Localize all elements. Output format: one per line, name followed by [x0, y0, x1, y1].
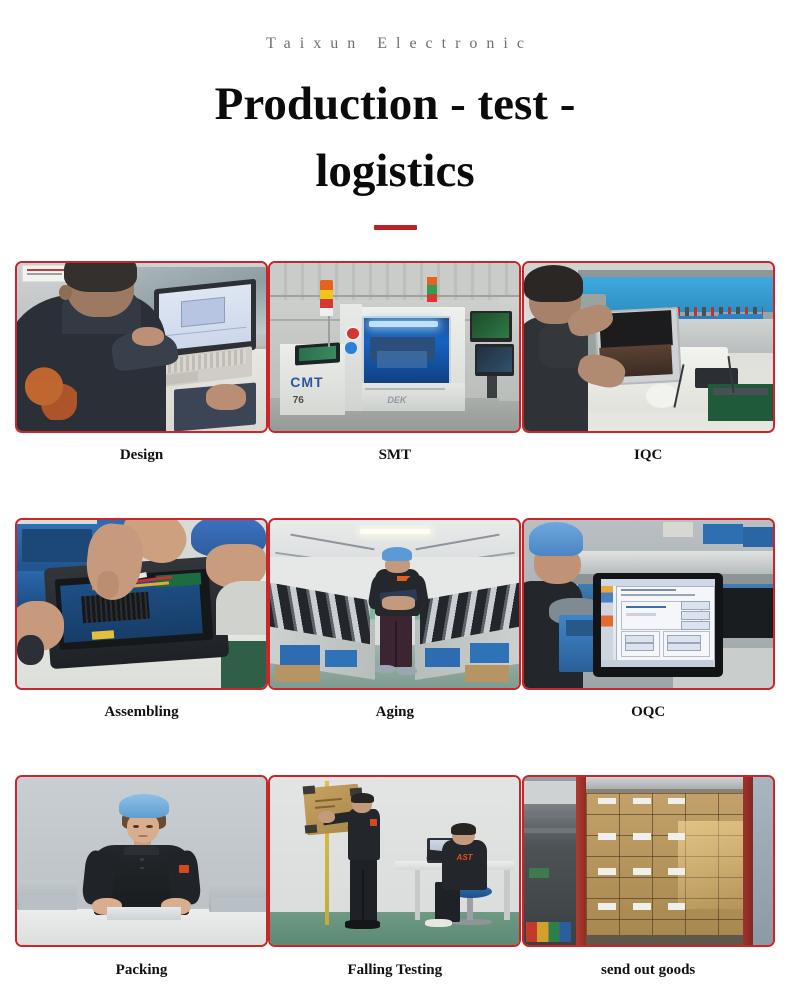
process-image-iqc[interactable]: [522, 261, 775, 433]
red-divider: [374, 225, 417, 230]
process-cell-oqc[interactable]: OQC: [522, 518, 775, 744]
process-image-packing[interactable]: [15, 775, 268, 947]
process-cell-aging[interactable]: Aging: [268, 518, 521, 744]
scene-smt-printer-machine-cmt: DEK CMT 76: [270, 263, 519, 431]
process-cell-packing[interactable]: Packing: [15, 775, 268, 1002]
process-grid-row-3: Packing FAST: [0, 775, 790, 1002]
process-label-smt: SMT: [268, 433, 521, 487]
process-label-packing: Packing: [15, 947, 268, 1002]
process-label-oqc: OQC: [522, 690, 775, 744]
scene-worker-inspecting-display-panel: [524, 263, 773, 431]
title-divider-wrap: [0, 225, 790, 230]
process-cell-iqc[interactable]: IQC: [522, 261, 775, 487]
smt-machine-number: 76: [293, 395, 318, 408]
smt-panel-text: DEK: [387, 395, 427, 408]
process-image-oqc[interactable]: [522, 518, 775, 690]
scene-hands-assembling-mainboard: [17, 520, 266, 688]
process-grid-row-2: Assembling: [0, 518, 790, 744]
smt-brand-label: CMT: [290, 374, 340, 391]
page-title: Production - test - logistics: [160, 71, 630, 204]
scene-burn-in-aging-room-aisle: [270, 520, 519, 688]
process-grid-row-1: Design DEK CMT 76: [0, 261, 790, 487]
process-label-design: Design: [15, 433, 268, 487]
process-image-aging[interactable]: [268, 518, 521, 690]
scene-engineer-at-laptop-cad: [17, 263, 266, 431]
production-process-page: Taixun Electronic Production - test - lo…: [0, 0, 790, 984]
scene-woman-wrapping-antistatic-bags: [17, 777, 266, 945]
process-label-iqc: IQC: [522, 433, 775, 487]
process-label-falling-testing: Falling Testing: [268, 947, 521, 1002]
process-cell-design[interactable]: Design: [15, 261, 268, 487]
scene-drop-test-box-and-laptop-desk: FAST: [270, 777, 519, 945]
process-cell-falling-testing[interactable]: FAST Falling Testing: [268, 775, 521, 1002]
process-label-aging: Aging: [268, 690, 521, 744]
brand-eyebrow: Taixun Electronic: [0, 36, 790, 52]
process-cell-send-out-goods[interactable]: send out goods: [522, 775, 775, 1002]
process-image-send-out-goods[interactable]: [522, 775, 775, 947]
process-label-send-out-goods: send out goods: [522, 947, 775, 1002]
process-image-smt[interactable]: DEK CMT 76: [268, 261, 521, 433]
scene-loaded-shipping-container-cartons: [524, 777, 773, 945]
process-cell-assembling[interactable]: Assembling: [15, 518, 268, 744]
page-header: Taixun Electronic Production - test - lo…: [0, 0, 790, 230]
process-image-assembling[interactable]: [15, 518, 268, 690]
scene-operator-testing-panel-pc: [524, 520, 773, 688]
process-image-falling-testing[interactable]: FAST: [268, 775, 521, 947]
process-image-design[interactable]: [15, 261, 268, 433]
process-cell-smt[interactable]: DEK CMT 76 SMT: [268, 261, 521, 487]
process-label-assembling: Assembling: [15, 690, 268, 744]
